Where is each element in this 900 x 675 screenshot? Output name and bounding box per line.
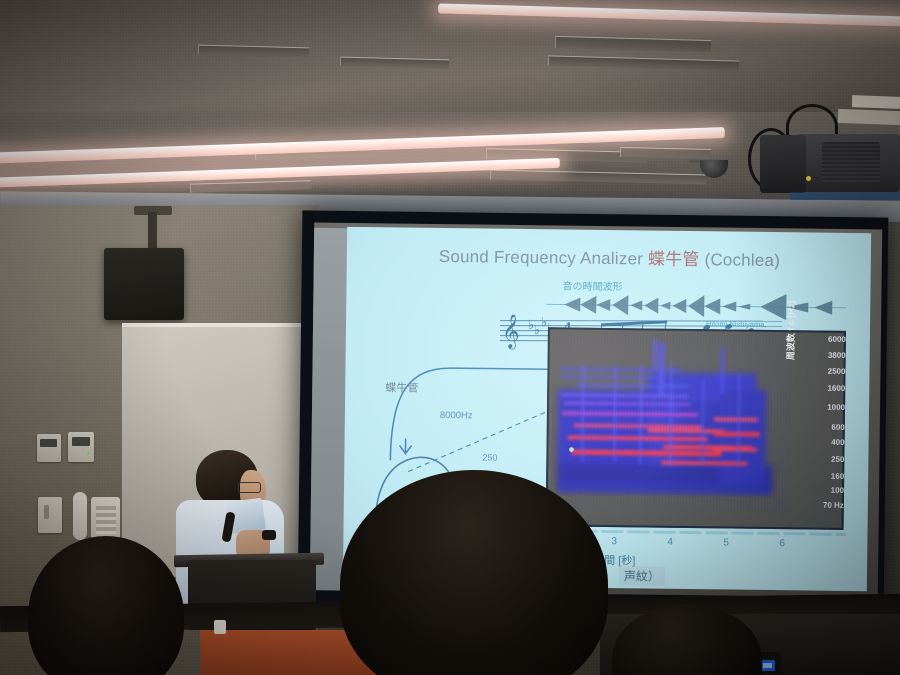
projector-vent-grill [822, 142, 880, 184]
spectrogram-noise-floor [551, 331, 793, 512]
y-tick: 160 [831, 472, 844, 481]
projector-lens-head [760, 135, 806, 193]
y-tick: 400 [831, 438, 844, 447]
wall-switch[interactable] [44, 505, 49, 519]
x-tick: 6 [779, 538, 785, 549]
spectrogram-y-axis-label: 周波数 f c [Hz] [784, 301, 798, 361]
y-tick: 70 Hz [823, 501, 844, 510]
wall-panel-display [72, 437, 90, 446]
y-tick: 3800 [828, 351, 846, 360]
slide-title-japanese: 蝶牛管 [648, 249, 700, 269]
cochlea-label: 蝶牛管 [385, 379, 418, 395]
desk-cup [214, 620, 226, 634]
ceiling-vent [620, 147, 711, 159]
wall-panel-display [40, 439, 57, 447]
y-tick: 1600 [827, 384, 845, 393]
projector-mount-plate [838, 109, 900, 125]
phone-keypad[interactable] [96, 506, 116, 534]
spectrogram-plot-area [551, 331, 793, 512]
spectrogram-y-tick-labels: 6000 3800 2500 1600 1000 600 400 250 160… [796, 332, 846, 515]
x-tick: 3 [611, 536, 617, 547]
projector-status-led [806, 176, 811, 181]
speaker-stem [148, 212, 157, 250]
wall-phone-handset[interactable] [73, 492, 87, 540]
presentation-remote [262, 530, 276, 540]
y-tick: 1000 [827, 403, 845, 412]
slide-title: Sound Frequency Analizer 蝶牛管 (Cochlea) [439, 242, 859, 272]
x-tick: 5 [723, 537, 729, 548]
y-tick: 6000 [828, 335, 846, 344]
y-tick: 250 [831, 455, 844, 464]
projector-mount-plate [852, 95, 900, 109]
device-led-core [763, 663, 772, 668]
cochlea-outer-frequency: 8000Hz [440, 410, 473, 421]
y-tick: 600 [831, 423, 844, 432]
slide-title-paren: (Cochlea) [704, 250, 780, 270]
y-tick: 2500 [828, 367, 846, 376]
wall-panel-led [87, 452, 90, 455]
lecture-room-photo: Sound Frequency Analizer 蝶牛管 (Cochlea) 音… [0, 0, 900, 675]
ceiling-speaker [104, 248, 184, 320]
glasses-icon [238, 482, 261, 493]
cochlea-inner-frequency: 250 [482, 452, 497, 462]
x-tick: 4 [667, 537, 673, 548]
y-tick: 100 [831, 486, 844, 495]
projector-underglow [790, 192, 900, 200]
wall-switch-plate[interactable] [38, 497, 62, 533]
slide-title-main: Sound Frequency Analizer [439, 247, 643, 268]
slide-bottom-note: 声紋） [619, 566, 665, 586]
